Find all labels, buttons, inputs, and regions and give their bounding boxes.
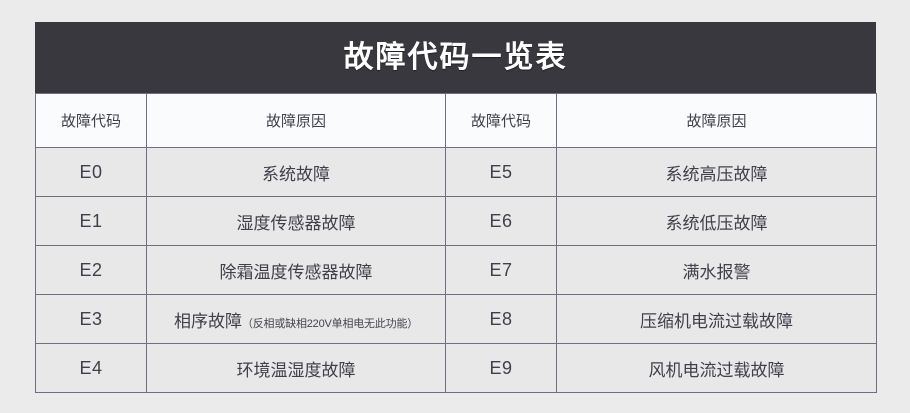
fault-reason-text: 满水报警 — [683, 258, 751, 283]
table-row: E1 湿度传感器故障 E6 系统低压故障 — [36, 197, 877, 246]
fault-reason-cell: 环境温湿度故障 — [147, 344, 446, 393]
fault-code-table: 故障代码 故障原因 故障代码 故障原因 E0 系统故障 E5 — [35, 93, 877, 393]
fault-code-cell: E0 — [36, 148, 147, 197]
fault-reason-cell: 满水报警 — [557, 246, 877, 295]
column-header-fault-reason-left: 故障原因 — [147, 94, 446, 148]
column-header-fault-reason-right: 故障原因 — [557, 94, 877, 148]
page-root: 故障代码一览表 故障代码 故障原因 故障代码 故障原因 E0 — [0, 0, 910, 413]
page-title: 故障代码一览表 — [344, 43, 568, 73]
table-title-bar: 故障代码一览表 — [35, 22, 876, 93]
fault-reason-text: 湿度传感器故障 — [237, 209, 356, 234]
table-row: E4 环境温湿度故障 E9 风机电流过载故障 — [36, 344, 877, 393]
fault-reason-cell: 风机电流过载故障 — [557, 344, 877, 393]
table-row: E0 系统故障 E5 系统高压故障 — [36, 148, 877, 197]
fault-code-cell: E1 — [36, 197, 147, 246]
fault-reason-text: 相序故障 — [174, 307, 242, 332]
fault-reason-cell: 湿度传感器故障 — [147, 197, 446, 246]
fault-reason-cell: 除霜温度传感器故障 — [147, 246, 446, 295]
fault-reason-cell: 系统低压故障 — [557, 197, 877, 246]
table-header-row: 故障代码 故障原因 故障代码 故障原因 — [36, 94, 877, 148]
fault-reason-text: 系统故障 — [262, 160, 330, 185]
fault-reason-text: 除霜温度传感器故障 — [220, 258, 373, 283]
fault-code-table-container: 故障代码一览表 故障代码 故障原因 故障代码 故障原因 E0 — [35, 22, 876, 393]
column-header-fault-code-right: 故障代码 — [446, 94, 557, 148]
fault-code-cell: E6 — [446, 197, 557, 246]
fault-code-cell: E9 — [446, 344, 557, 393]
fault-code-cell: E2 — [36, 246, 147, 295]
fault-reason-text: 压缩机电流过载故障 — [640, 307, 793, 332]
fault-reason-note: （反相或缺相220V单相电无此功能） — [242, 315, 418, 331]
fault-reason-cell: 系统故障 — [147, 148, 446, 197]
fault-reason-cell: 压缩机电流过载故障 — [557, 295, 877, 344]
fault-reason-text: 系统低压故障 — [666, 209, 768, 234]
table-row: E3 相序故障 （反相或缺相220V单相电无此功能） E8 压缩机电流过载故障 — [36, 295, 877, 344]
fault-reason-text: 环境温湿度故障 — [237, 356, 356, 381]
table-body: E0 系统故障 E5 系统高压故障 — [36, 148, 877, 393]
fault-code-cell: E5 — [446, 148, 557, 197]
fault-code-cell: E8 — [446, 295, 557, 344]
fault-code-cell: E3 — [36, 295, 147, 344]
table-header: 故障代码 故障原因 故障代码 故障原因 — [36, 94, 877, 148]
column-header-fault-code-left: 故障代码 — [36, 94, 147, 148]
fault-code-cell: E4 — [36, 344, 147, 393]
fault-reason-cell: 系统高压故障 — [557, 148, 877, 197]
fault-reason-cell: 相序故障 （反相或缺相220V单相电无此功能） — [147, 295, 446, 344]
table-row: E2 除霜温度传感器故障 E7 满水报警 — [36, 246, 877, 295]
fault-reason-text: 风机电流过载故障 — [649, 356, 785, 381]
fault-reason-text: 系统高压故障 — [666, 160, 768, 185]
fault-code-cell: E7 — [446, 246, 557, 295]
